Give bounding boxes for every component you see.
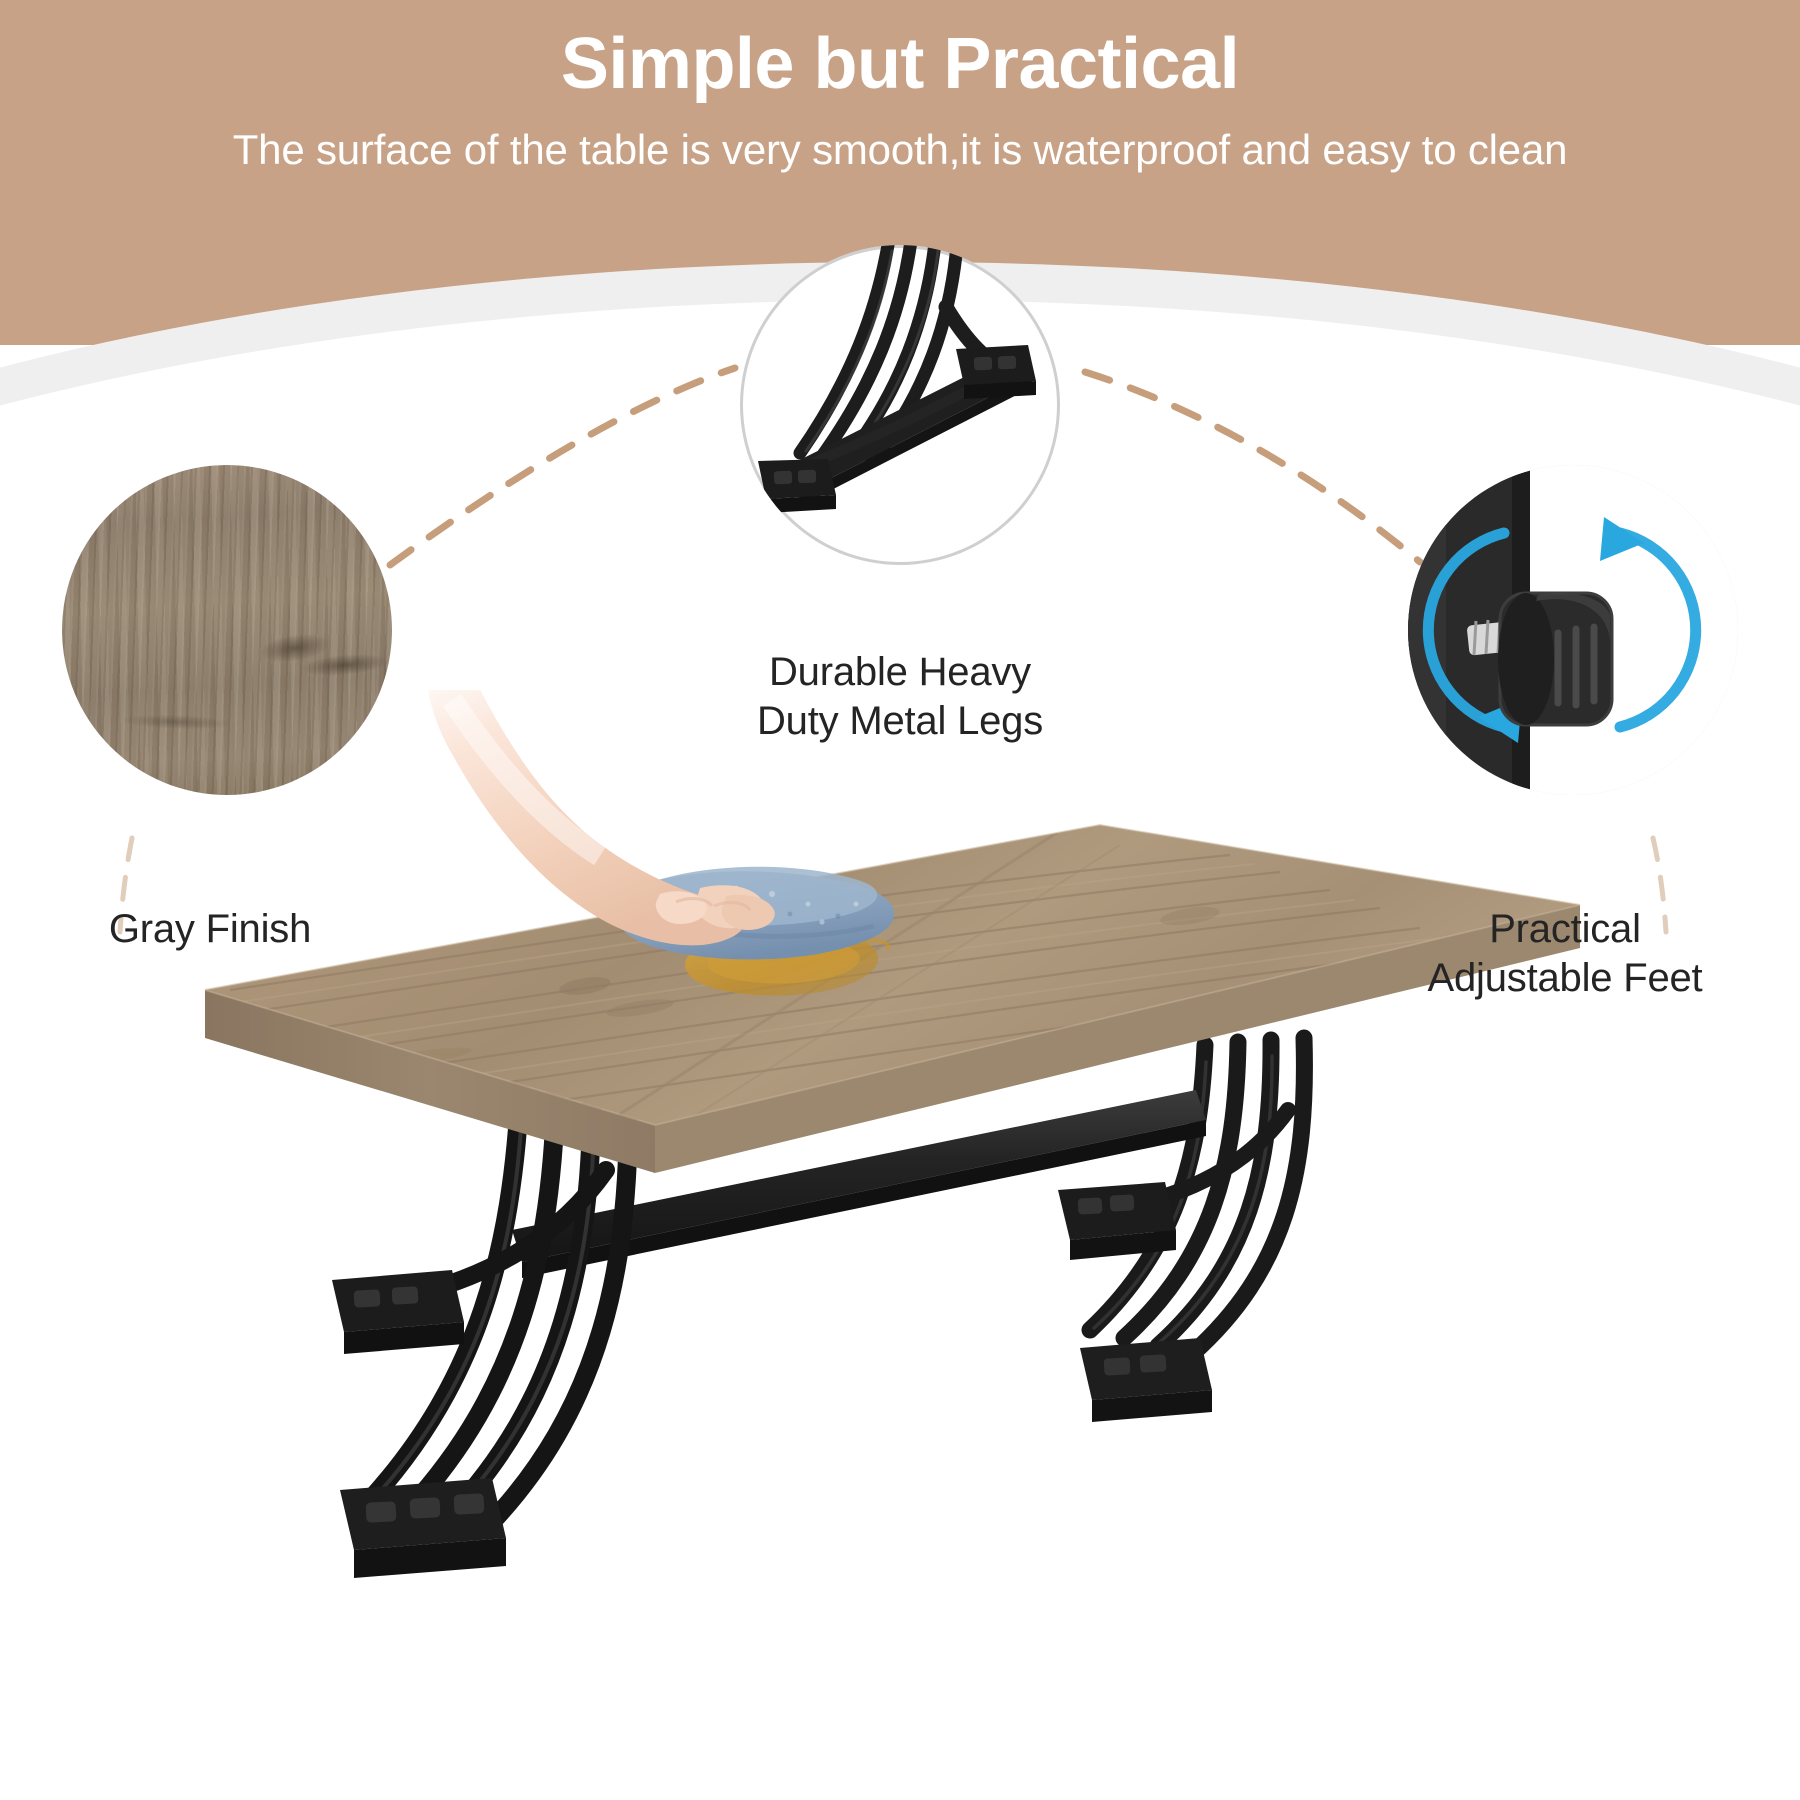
caption-adjustable-feet: Practical Adjustable Feet: [1330, 905, 1800, 1003]
caption-line: Adjustable Feet: [1330, 954, 1800, 1003]
adjustable-feet-circle: [1408, 465, 1738, 795]
metal-legs-circle: [740, 245, 1060, 565]
metal-trestle-leg-icon: [740, 245, 1060, 565]
caption-line: Practical: [1330, 905, 1800, 954]
feature-adjustable-feet[interactable]: [1408, 465, 1738, 795]
caption-line: Durable Heavy: [640, 648, 1160, 697]
gray-finish-circle: [62, 465, 392, 795]
adjustable-foot-knob-icon: [1408, 465, 1738, 795]
caption-line: Gray Finish: [0, 905, 420, 954]
caption-metal-legs: Durable Heavy Duty Metal Legs: [640, 648, 1160, 746]
table-leg-left: [332, 1084, 628, 1578]
wood-grain-swatch-icon: [62, 465, 392, 795]
feature-metal-legs[interactable]: [740, 245, 1060, 565]
page-subtitle: The surface of the table is very smooth,…: [0, 126, 1800, 174]
infographic-canvas: Simple but Practical The surface of the …: [0, 0, 1800, 1800]
product-photo: [0, 690, 1800, 1800]
page-title: Simple but Practical: [0, 26, 1800, 104]
feature-gray-finish[interactable]: [62, 465, 392, 795]
caption-gray-finish: Gray Finish: [0, 905, 420, 954]
caption-line: Duty Metal Legs: [640, 697, 1160, 746]
